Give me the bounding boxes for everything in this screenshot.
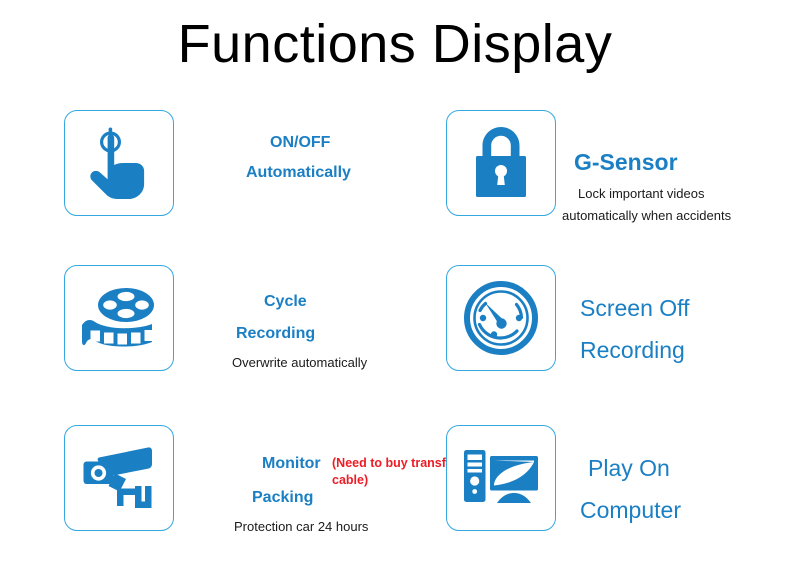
feature-title-line2: Packing	[252, 483, 313, 513]
feature-title-line1: Screen Off	[580, 287, 690, 329]
feature-text-play-on-computer: Play On Computer	[562, 425, 790, 575]
desktop-computer-icon	[461, 445, 541, 511]
feature-item-screen-off-recording[interactable]: Screen Off Recording	[440, 265, 790, 415]
feature-title-line2: Computer	[580, 489, 681, 531]
icon-box-on-off	[64, 110, 174, 216]
feature-title-line1: Cycle	[264, 287, 307, 317]
functions-display-page: Functions Display ON/OFF Automaticall	[0, 0, 790, 576]
feature-item-cycle-recording[interactable]: Cycle Recording Overwrite automatically	[58, 265, 433, 415]
gauge-icon	[463, 280, 539, 356]
icon-box-play-on-computer	[446, 425, 556, 531]
feature-subtitle-line1: Lock important videos	[578, 184, 704, 203]
feature-subtitle-line1: Protection car 24 hours	[234, 517, 368, 536]
feature-text-screen-off-recording: Screen Off Recording	[562, 265, 790, 415]
feature-title-line1: Monitor	[262, 449, 321, 479]
icon-box-screen-off-recording	[446, 265, 556, 371]
feature-subtitle-line1: Overwrite automatically	[232, 353, 367, 372]
feature-title-line2: Recording	[236, 319, 315, 349]
feature-text-g-sensor: G-Sensor Lock important videos automatic…	[562, 110, 790, 260]
features-grid: ON/OFF Automatically	[0, 100, 790, 570]
cctv-camera-icon	[77, 445, 161, 511]
feature-item-monitor-packing[interactable]: Monitor Packing (Need to buy transformer…	[58, 425, 433, 575]
film-reel-icon	[78, 285, 160, 351]
icon-box-monitor-packing	[64, 425, 174, 531]
lock-icon	[467, 125, 535, 201]
touch-hand-power-icon	[86, 126, 152, 200]
icon-box-cycle-recording	[64, 265, 174, 371]
feature-title-line1: ON/OFF	[270, 128, 330, 158]
feature-title-line2: Recording	[580, 329, 685, 371]
feature-title-line1: Play On	[588, 447, 670, 489]
feature-text-monitor-packing: Monitor Packing (Need to buy transformer…	[180, 425, 430, 575]
icon-box-g-sensor	[446, 110, 556, 216]
feature-item-g-sensor[interactable]: G-Sensor Lock important videos automatic…	[440, 110, 790, 260]
feature-text-on-off: ON/OFF Automatically	[180, 110, 430, 260]
feature-item-on-off-automatically[interactable]: ON/OFF Automatically	[58, 110, 433, 260]
page-title: Functions Display	[0, 12, 790, 76]
feature-title-line1: G-Sensor	[574, 148, 678, 176]
feature-item-play-on-computer[interactable]: Play On Computer	[440, 425, 790, 575]
feature-text-cycle-recording: Cycle Recording Overwrite automatically	[180, 265, 430, 415]
feature-title-line2: Automatically	[246, 158, 351, 188]
feature-subtitle-line2: automatically when accidents	[562, 206, 731, 225]
